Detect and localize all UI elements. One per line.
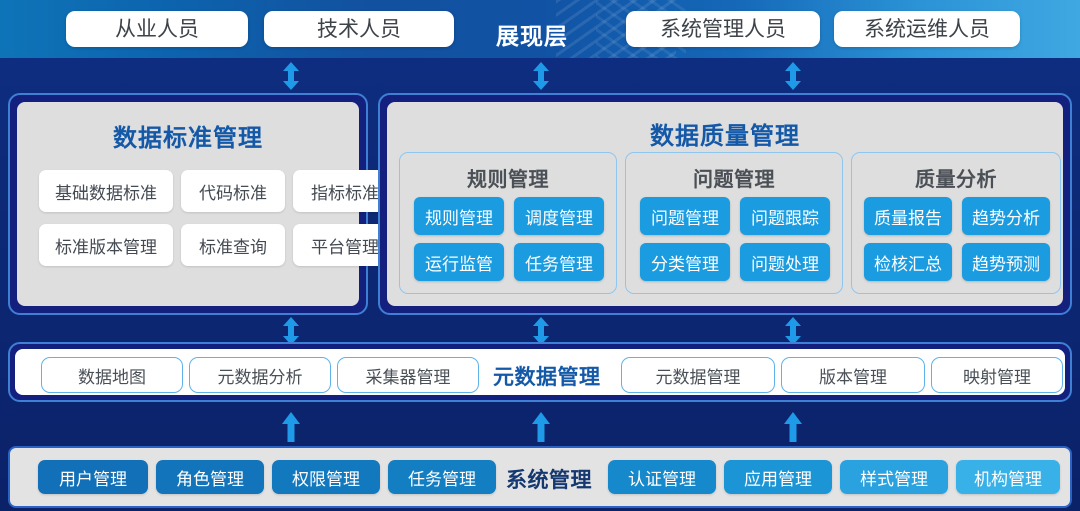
- quality-button-issue-handling[interactable]: 问题处理: [740, 243, 830, 281]
- quality-group-title: 规则管理: [400, 163, 616, 192]
- metadata-button-metadata-analysis[interactable]: 元数据分析: [189, 357, 331, 393]
- quality-button-rule-management[interactable]: 规则管理: [414, 197, 504, 235]
- metadata-layer-label: 元数据管理: [493, 361, 601, 391]
- system-button-user-management[interactable]: 用户管理: [38, 460, 148, 494]
- system-management-bar: 用户管理 角色管理 权限管理 任务管理 系统管理 认证管理 应用管理 样式管理 …: [8, 446, 1072, 508]
- data-standards-title: 数据标准管理: [17, 118, 359, 153]
- metadata-button-metadata-management[interactable]: 元数据管理: [621, 357, 775, 393]
- up-arrow-icon: [280, 412, 302, 442]
- presentation-item-technician[interactable]: 技术人员: [264, 11, 454, 47]
- quality-group-rule-management: 规则管理 规则管理 调度管理 运行监管 任务管理: [399, 152, 617, 294]
- quality-button-task-management[interactable]: 任务管理: [514, 243, 604, 281]
- quality-button-issue-management[interactable]: 问题管理: [640, 197, 730, 235]
- metadata-button-data-map[interactable]: 数据地图: [41, 357, 183, 393]
- quality-button-issue-tracking[interactable]: 问题跟踪: [740, 197, 830, 235]
- presentation-layer-bar: 从业人员 技术人员 展现层 系统管理人员 系统运维人员: [0, 0, 1080, 58]
- presentation-item-practitioner[interactable]: 从业人员: [66, 11, 248, 47]
- system-button-task-management[interactable]: 任务管理: [388, 460, 496, 494]
- quality-button-trend-analysis[interactable]: 趋势分析: [962, 197, 1050, 235]
- quality-group-title: 质量分析: [852, 163, 1060, 192]
- standards-button-version[interactable]: 标准版本管理: [39, 224, 173, 266]
- system-button-application-management[interactable]: 应用管理: [724, 460, 832, 494]
- quality-group-issue-management: 问题管理 问题管理 问题跟踪 分类管理 问题处理: [625, 152, 843, 294]
- double-arrow-icon: [280, 62, 302, 92]
- presentation-item-sysops[interactable]: 系统运维人员: [834, 11, 1020, 47]
- standards-button-basic-data[interactable]: 基础数据标准: [39, 170, 173, 212]
- quality-group-title: 问题管理: [626, 163, 842, 192]
- system-button-role-management[interactable]: 角色管理: [156, 460, 264, 494]
- presentation-item-sysadmin[interactable]: 系统管理人员: [626, 11, 820, 47]
- metadata-button-mapping-management[interactable]: 映射管理: [931, 357, 1063, 393]
- presentation-layer-label: 展现层: [496, 17, 568, 51]
- quality-button-check-summary[interactable]: 检核汇总: [864, 243, 952, 281]
- quality-button-trend-forecast[interactable]: 趋势预测: [962, 243, 1050, 281]
- architecture-diagram: 从业人员 技术人员 展现层 系统管理人员 系统运维人员 数据标准管理 基础数据标…: [0, 0, 1080, 511]
- metadata-layer-panel: 数据地图 元数据分析 采集器管理 元数据管理 元数据管理 版本管理 映射管理: [8, 342, 1072, 402]
- standards-button-query[interactable]: 标准查询: [181, 224, 285, 266]
- metadata-button-version-management[interactable]: 版本管理: [781, 357, 925, 393]
- data-quality-title: 数据质量管理: [387, 116, 1063, 151]
- quality-group-quality-analysis: 质量分析 质量报告 趋势分析 检核汇总 趋势预测: [851, 152, 1061, 294]
- system-button-auth-management[interactable]: 认证管理: [608, 460, 716, 494]
- quality-button-schedule-management[interactable]: 调度管理: [514, 197, 604, 235]
- data-quality-panel: 数据质量管理 规则管理 规则管理 调度管理 运行监管 任务管理 问题管理 问题管…: [378, 93, 1072, 315]
- system-management-label: 系统管理: [506, 464, 592, 494]
- system-button-permission-management[interactable]: 权限管理: [272, 460, 380, 494]
- standards-button-code[interactable]: 代码标准: [181, 170, 285, 212]
- connector-strip-top: [0, 58, 1080, 92]
- quality-button-quality-report[interactable]: 质量报告: [864, 197, 952, 235]
- system-button-org-management[interactable]: 机构管理: [956, 460, 1060, 494]
- double-arrow-icon: [530, 62, 552, 92]
- double-arrow-icon: [782, 62, 804, 92]
- system-button-style-management[interactable]: 样式管理: [840, 460, 948, 494]
- up-arrow-icon: [782, 412, 804, 442]
- data-standards-panel: 数据标准管理 基础数据标准 代码标准 指标标准 标准版本管理 标准查询 平台管理: [8, 93, 368, 315]
- metadata-button-collector-management[interactable]: 采集器管理: [337, 357, 479, 393]
- metadata-layer-inner: 数据地图 元数据分析 采集器管理 元数据管理 元数据管理 版本管理 映射管理: [15, 349, 1065, 395]
- connector-strip-bottom: [0, 408, 1080, 442]
- data-standards-inner: 数据标准管理 基础数据标准 代码标准 指标标准 标准版本管理 标准查询 平台管理: [17, 102, 359, 306]
- data-quality-inner: 数据质量管理 规则管理 规则管理 调度管理 运行监管 任务管理 问题管理 问题管…: [387, 102, 1063, 306]
- quality-button-category-management[interactable]: 分类管理: [640, 243, 730, 281]
- quality-button-run-monitoring[interactable]: 运行监管: [414, 243, 504, 281]
- up-arrow-icon: [530, 412, 552, 442]
